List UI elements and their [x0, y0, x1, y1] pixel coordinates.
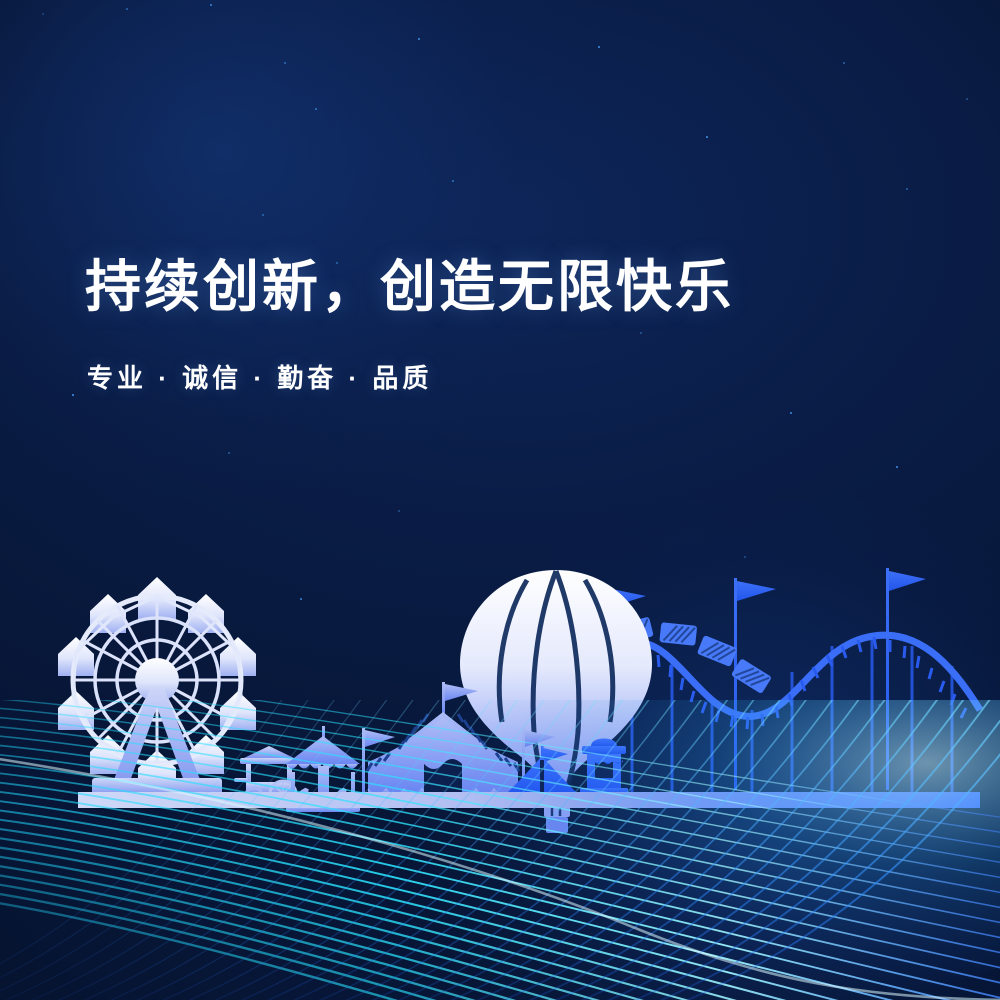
ground-line: [78, 792, 980, 808]
page-subtitle: 专业 · 诚信 · 勤奋 · 品质: [87, 358, 885, 395]
ferris-wheel: [58, 577, 256, 796]
page-title: 持续创新，创造无限快乐: [85, 255, 885, 320]
headline-block: 持续创新，创造无限快乐 专业 · 诚信 · 勤奋 · 品质: [85, 255, 885, 395]
ticket-booth: [580, 739, 628, 795]
carousel-roof: [286, 736, 360, 764]
amusement-park-scene: [0, 560, 1000, 1000]
poster-canvas: 持续创新，创造无限快乐 专业 · 诚信 · 勤奋 · 品质: [0, 0, 1000, 1000]
